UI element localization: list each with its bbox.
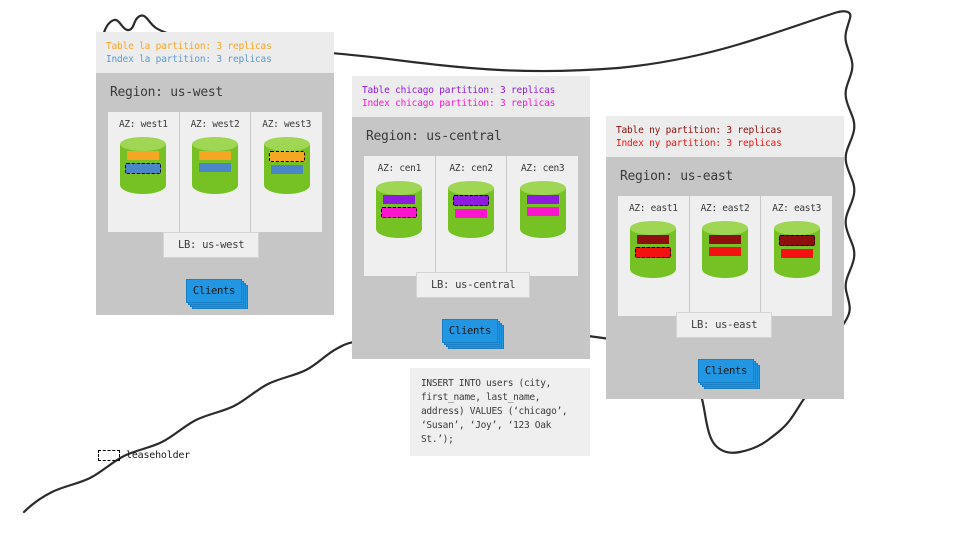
az-label-east3: AZ: east3 xyxy=(765,203,828,214)
cylinder-top-icon xyxy=(702,221,748,235)
clients-button-stack-us-west[interactable]: Clients xyxy=(186,279,248,307)
diagram-canvas: 2 Table la partition: 3 replicas Index l… xyxy=(0,0,960,540)
replica-band-table xyxy=(637,235,669,244)
region-header-us-central: Table chicago partition: 3 replicas Inde… xyxy=(352,76,590,117)
replica-band-table xyxy=(527,195,559,204)
replica-bands-east3 xyxy=(774,235,820,258)
az-cell-west1[interactable]: AZ: west1 xyxy=(108,112,180,232)
cylinder-top-icon xyxy=(448,181,494,195)
az-label-west2: AZ: west2 xyxy=(184,119,247,130)
replica-band-index-leaseholder xyxy=(635,247,671,258)
cylinder-top-icon xyxy=(120,137,166,151)
load-balancer-us-east[interactable]: LB: us-east xyxy=(676,312,772,338)
replica-bands-west1 xyxy=(120,151,166,174)
replica-band-table-leaseholder xyxy=(453,195,489,206)
az-label-west3: AZ: west3 xyxy=(255,119,318,130)
database-cylinder-cen2[interactable] xyxy=(448,181,494,245)
cylinder-top-icon xyxy=(520,181,566,195)
az-strip-us-central: AZ: cen1 AZ: cen2 xyxy=(364,156,578,276)
region-panel-us-west: Table la partition: 3 replicas Index la … xyxy=(96,32,334,315)
az-cell-west2[interactable]: AZ: west2 xyxy=(180,112,252,232)
replica-band-index xyxy=(199,163,231,172)
replica-band-table-leaseholder xyxy=(269,151,305,162)
az-label-cen2: AZ: cen2 xyxy=(440,163,503,174)
az-label-east2: AZ: east2 xyxy=(694,203,757,214)
region-title-us-west: Region: us-west xyxy=(110,85,322,100)
clients-button-us-west[interactable]: Clients xyxy=(186,279,242,303)
database-cylinder-west3[interactable] xyxy=(264,137,310,201)
cylinder-top-icon xyxy=(630,221,676,235)
az-label-cen1: AZ: cen1 xyxy=(368,163,431,174)
replica-band-table xyxy=(127,151,159,160)
clients-group-us-central[interactable]: Clients xyxy=(442,319,504,347)
region-header-us-west: Table la partition: 3 replicas Index la … xyxy=(96,32,334,73)
replica-bands-west2 xyxy=(192,151,238,172)
cylinder-top-icon xyxy=(264,137,310,151)
legend: leaseholder xyxy=(98,450,190,461)
region-title-us-central: Region: us-central xyxy=(366,129,578,144)
partition-info-table-chicago: Table chicago partition: 3 replicas xyxy=(362,84,580,97)
database-cylinder-west2[interactable] xyxy=(192,137,238,201)
az-cell-east3[interactable]: AZ: east3 xyxy=(761,196,832,316)
partition-info-table-la: Table la partition: 3 replicas xyxy=(106,40,324,53)
az-cell-cen3[interactable]: AZ: cen3 xyxy=(507,156,578,276)
replica-band-index-leaseholder xyxy=(381,207,417,218)
database-cylinder-east2[interactable] xyxy=(702,221,748,285)
clients-group-us-west[interactable]: Clients xyxy=(186,279,248,307)
replica-band-index xyxy=(781,249,813,258)
replica-band-index xyxy=(709,247,741,256)
replica-band-index-leaseholder xyxy=(125,163,161,174)
replica-band-index xyxy=(271,165,303,174)
cylinder-top-icon xyxy=(192,137,238,151)
database-cylinder-east3[interactable] xyxy=(774,221,820,285)
sql-insert-statement: INSERT INTO users (city, first_name, las… xyxy=(410,368,590,456)
clients-button-stack-us-central[interactable]: Clients xyxy=(442,319,504,347)
az-label-east1: AZ: east1 xyxy=(622,203,685,214)
replica-bands-cen3 xyxy=(520,195,566,216)
az-cell-cen1[interactable]: AZ: cen1 xyxy=(364,156,436,276)
az-strip-us-east: AZ: east1 AZ: east2 xyxy=(618,196,832,316)
az-label-cen3: AZ: cen3 xyxy=(511,163,574,174)
region-panel-us-east: Table ny partition: 3 replicas Index ny … xyxy=(606,116,844,399)
cylinder-top-icon xyxy=(376,181,422,195)
region-panel-us-central: Table chicago partition: 3 replicas Inde… xyxy=(352,76,590,359)
database-cylinder-west1[interactable] xyxy=(120,137,166,201)
clients-button-us-east[interactable]: Clients xyxy=(698,359,754,383)
database-cylinder-cen3[interactable] xyxy=(520,181,566,245)
partition-info-index-la: Index la partition: 3 replicas xyxy=(106,53,324,66)
legend-label-leaseholder: leaseholder xyxy=(126,450,190,461)
cylinder-top-icon xyxy=(774,221,820,235)
load-balancer-us-west[interactable]: LB: us-west xyxy=(163,232,259,258)
az-strip-us-west: AZ: west1 AZ: west2 xyxy=(108,112,322,232)
replica-band-index xyxy=(527,207,559,216)
partition-info-index-ny: Index ny partition: 3 replicas xyxy=(616,137,834,150)
az-cell-west3[interactable]: AZ: west3 xyxy=(251,112,322,232)
az-cell-east2[interactable]: AZ: east2 xyxy=(690,196,762,316)
region-title-us-east: Region: us-east xyxy=(620,169,832,184)
replica-bands-east2 xyxy=(702,235,748,256)
database-cylinder-east1[interactable] xyxy=(630,221,676,285)
az-cell-cen2[interactable]: AZ: cen2 xyxy=(436,156,508,276)
leaseholder-dashed-icon xyxy=(98,450,120,461)
clients-button-us-central[interactable]: Clients xyxy=(442,319,498,343)
partition-info-index-chicago: Index chicago partition: 3 replicas xyxy=(362,97,580,110)
replica-band-index xyxy=(455,209,487,218)
load-balancer-us-central[interactable]: LB: us-central xyxy=(416,272,530,298)
clients-button-stack-us-east[interactable]: Clients xyxy=(698,359,760,387)
replica-band-table xyxy=(199,151,231,160)
replica-bands-cen1 xyxy=(376,195,422,218)
replica-band-table xyxy=(709,235,741,244)
az-cell-east1[interactable]: AZ: east1 xyxy=(618,196,690,316)
replica-bands-east1 xyxy=(630,235,676,258)
region-header-us-east: Table ny partition: 3 replicas Index ny … xyxy=(606,116,844,157)
replica-bands-cen2 xyxy=(448,195,494,218)
replica-band-table xyxy=(383,195,415,204)
replica-band-table-leaseholder xyxy=(779,235,815,246)
replica-bands-west3 xyxy=(264,151,310,174)
partition-info-table-ny: Table ny partition: 3 replicas xyxy=(616,124,834,137)
az-label-west1: AZ: west1 xyxy=(112,119,175,130)
clients-group-us-east[interactable]: Clients xyxy=(698,359,760,387)
database-cylinder-cen1[interactable] xyxy=(376,181,422,245)
